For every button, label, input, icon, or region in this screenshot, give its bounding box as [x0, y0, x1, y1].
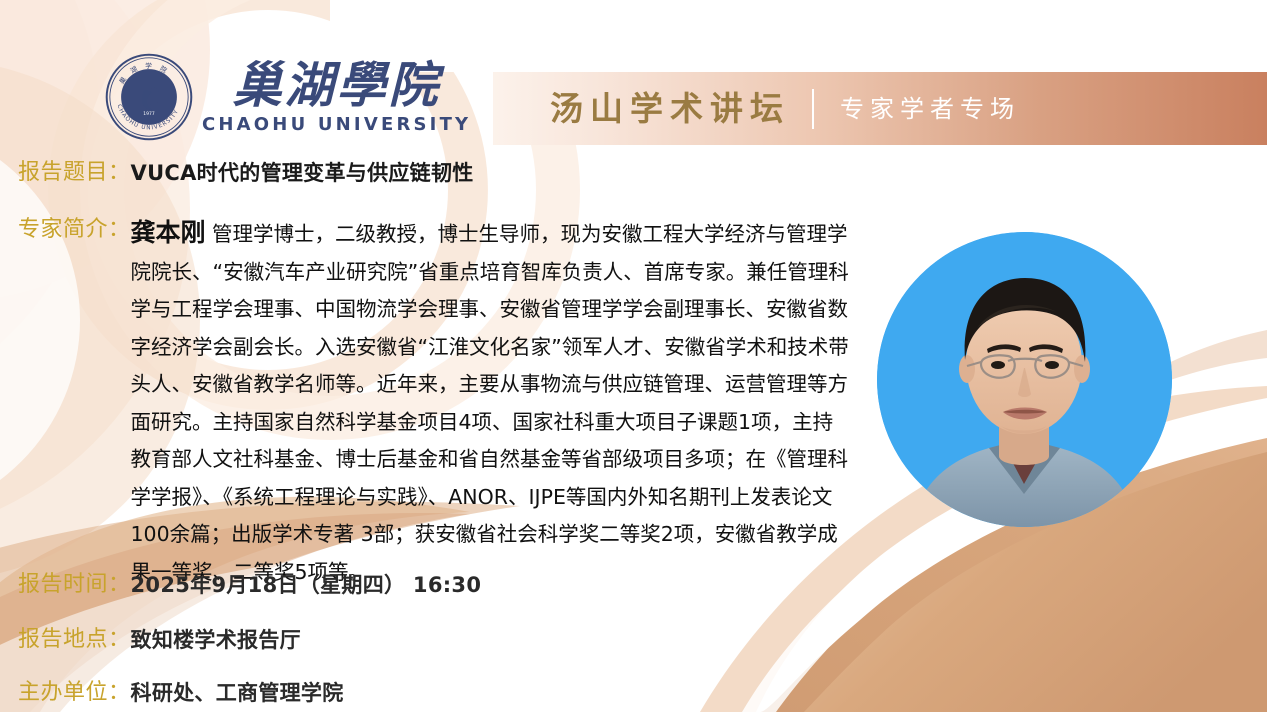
speaker-bio-text: 管理学博士，二级教授，博士生导师，现为安徽工程大学经济与管理学院院长、“安徽汽车… — [131, 222, 849, 584]
lecture-time-value: 2025年9月18日（星期四） 16:30 — [131, 570, 482, 600]
speaker-bio-label: 专家简介： — [18, 213, 131, 247]
speaker-portrait — [877, 232, 1172, 527]
poster-root: 1977 巢 湖 学 院 CHAOHU UNIVERSITY 巢湖學院 CHAO… — [0, 0, 1267, 712]
organizer-row: 主办单位： 科研处、工商管理学院 — [18, 678, 344, 708]
speaker-name: 龚本刚 — [131, 218, 206, 247]
speaker-bio-row: 专家简介： 龚本刚 管理学博士，二级教授，博士生导师，现为安徽工程大学经济与管理… — [18, 213, 853, 591]
lecture-title-label: 报告题目： — [18, 158, 131, 188]
lecture-time-label: 报告时间： — [18, 570, 131, 600]
lecture-time-row: 报告时间： 2025年9月18日（星期四） 16:30 — [18, 570, 481, 600]
lecture-title-value: VUCA时代的管理变革与供应链韧性 — [131, 158, 474, 188]
lecture-place-label: 报告地点： — [18, 625, 131, 655]
lecture-place-row: 报告地点： 致知楼学术报告厅 — [18, 625, 301, 655]
speaker-bio-body: 龚本刚 管理学博士，二级教授，博士生导师，现为安徽工程大学经济与管理学院院长、“… — [131, 213, 853, 591]
lecture-title-row: 报告题目： VUCA时代的管理变革与供应链韧性 — [18, 158, 474, 188]
organizer-value: 科研处、工商管理学院 — [131, 678, 344, 708]
organizer-label: 主办单位： — [18, 678, 131, 708]
lecture-place-value: 致知楼学术报告厅 — [131, 625, 301, 655]
